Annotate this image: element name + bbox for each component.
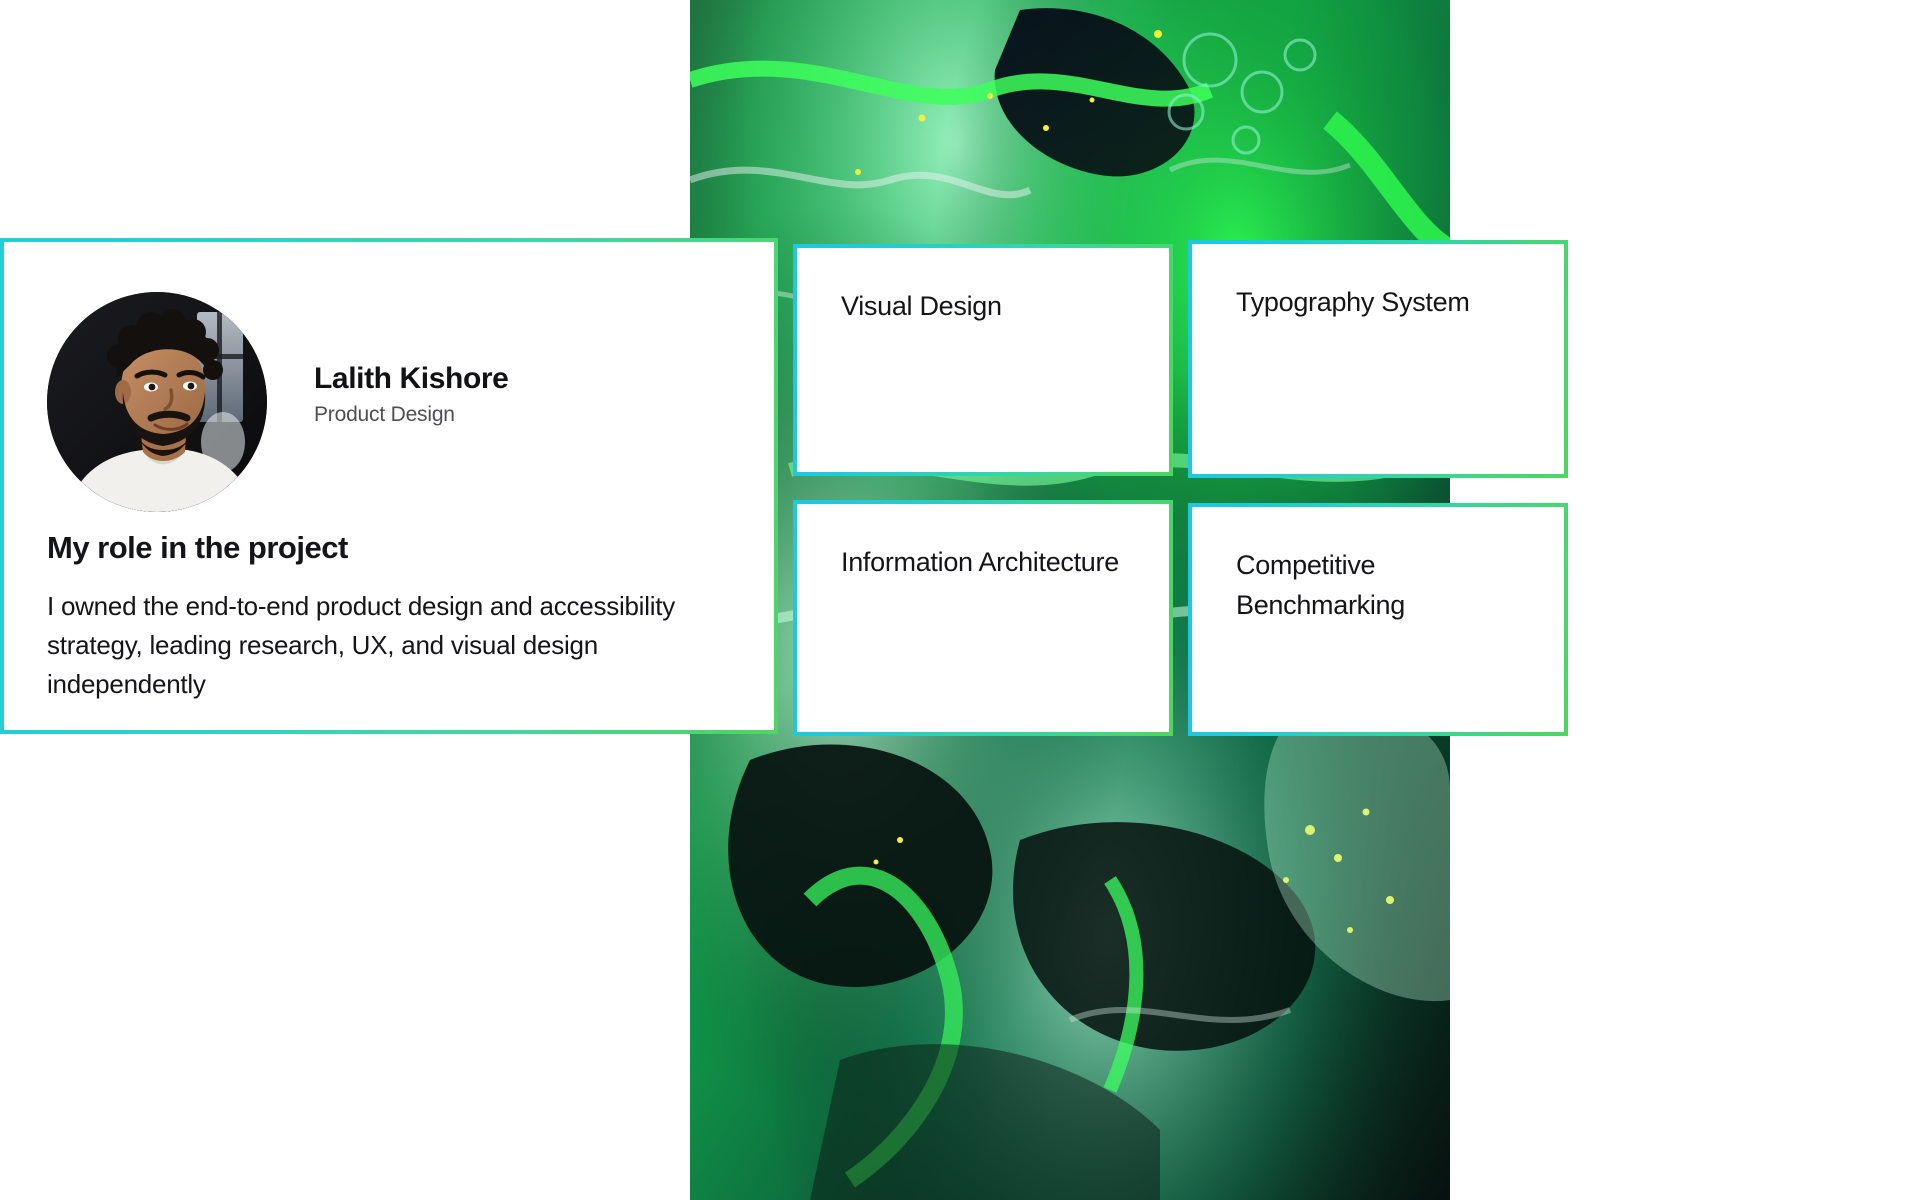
skill-card-label: Competitive Benchmarking [1236,545,1536,625]
person-role: Product Design [314,403,455,427]
skill-card-typography-system[interactable]: Typography System [1188,240,1568,478]
slide-canvas: Lalith Kishore Product Design My role in… [0,0,1920,1200]
section-heading: My role in the project [47,530,348,566]
skill-card-label: Information Architecture [841,542,1141,582]
profile-panel: Lalith Kishore Product Design My role in… [0,238,778,734]
skill-card-information-architecture[interactable]: Information Architecture [793,500,1173,736]
person-name: Lalith Kishore [314,362,508,396]
skill-card-visual-design[interactable]: Visual Design [793,244,1173,476]
section-body: I owned the end-to-end product design an… [47,587,717,704]
skill-card-label: Typography System [1236,282,1536,322]
avatar [47,292,267,512]
skill-card-competitive-benchmarking[interactable]: Competitive Benchmarking [1188,503,1568,736]
skill-card-label: Visual Design [841,286,1141,326]
